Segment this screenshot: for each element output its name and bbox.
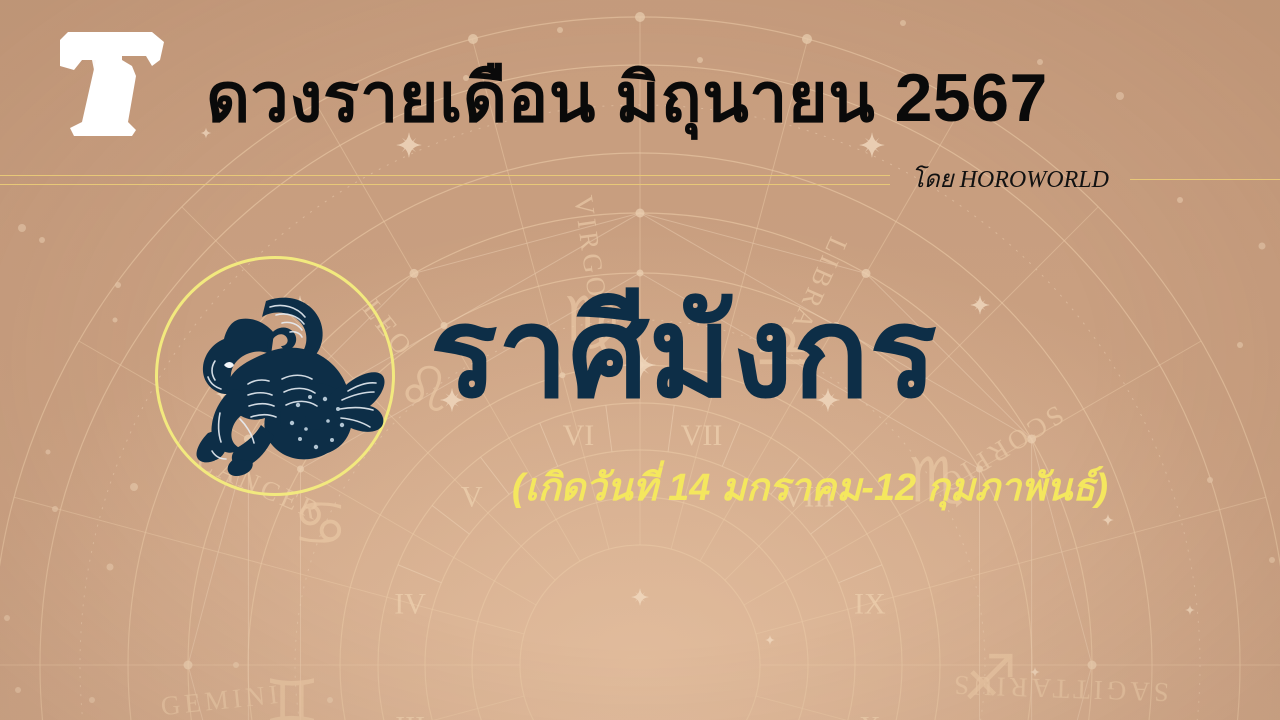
letter-t-logo-icon[interactable] — [48, 26, 170, 138]
svg-text:III: III — [395, 711, 425, 720]
zodiac-emblem-circle — [155, 256, 395, 496]
divider-line-right — [1130, 179, 1280, 180]
divider-line-left-bottom — [0, 184, 890, 185]
svg-text:♋: ♋ — [292, 487, 348, 560]
capricorn-sea-goat-icon — [170, 273, 386, 485]
zodiac-sign-name: ราศีมังกร — [430, 278, 1190, 428]
byline-credit: โดย HOROWORLD — [895, 163, 1125, 197]
page-title: ดวงรายเดือน มิถุนายน 2567 — [206, 52, 1216, 144]
svg-text:♊: ♊ — [264, 666, 320, 720]
svg-text:♐: ♐ — [962, 641, 1018, 714]
svg-text:X: X — [859, 711, 881, 720]
horoscope-banner: III IV V VI VII VIII IX X XI II TAURUS G… — [0, 0, 1280, 720]
svg-text:IV: IV — [394, 587, 426, 620]
divider-line-left-top — [0, 175, 890, 176]
svg-text:IX: IX — [854, 587, 886, 620]
zodiac-date-range: (เกิดวันที่ 14 มกราคม-12 กุมภาพันธ์) — [430, 462, 1190, 514]
